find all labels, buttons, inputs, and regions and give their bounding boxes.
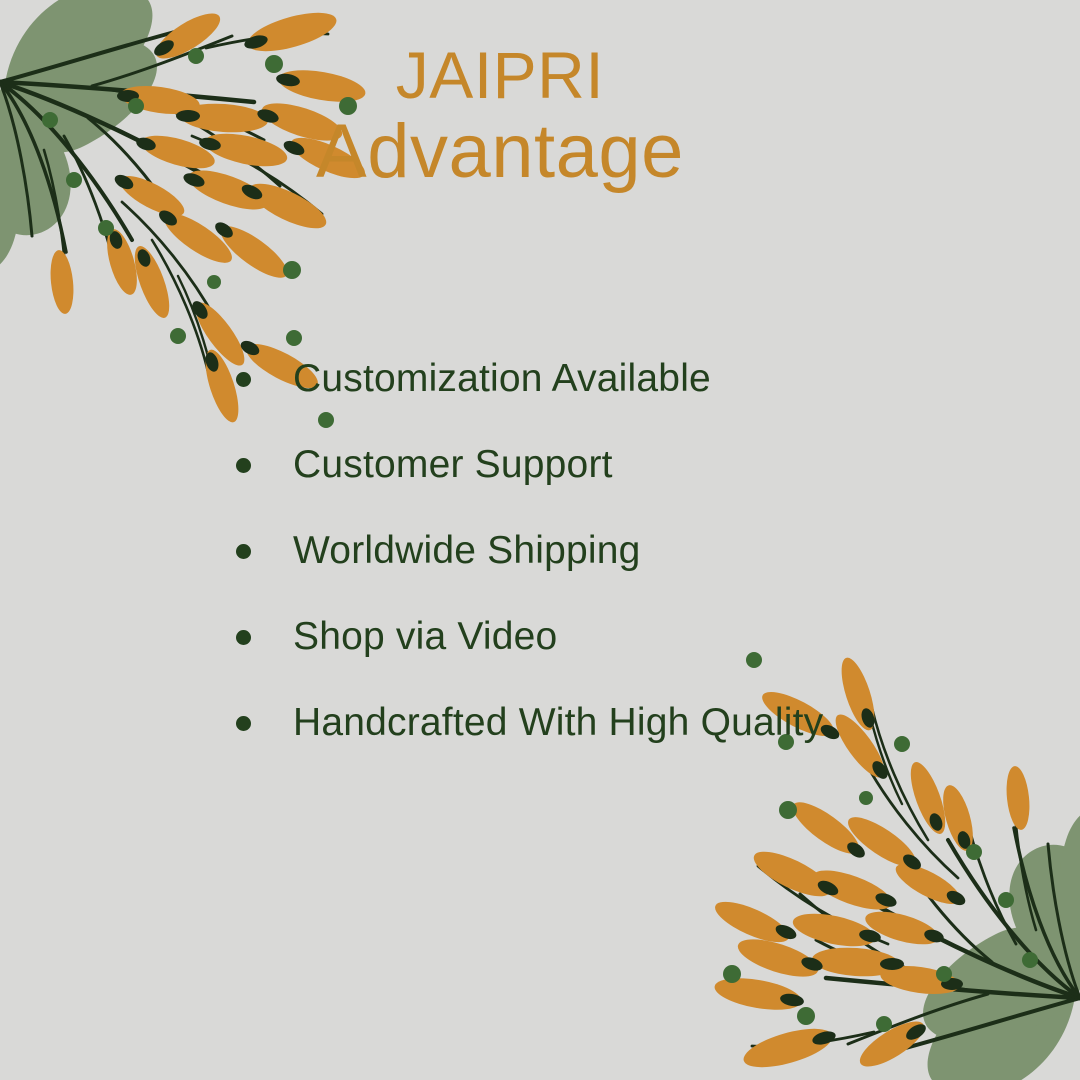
list-item: Shop via Video — [236, 594, 996, 680]
bullet-icon — [236, 458, 251, 473]
list-item-label: Customer Support — [293, 443, 613, 487]
page-title: JAIPRI Advantage — [275, 40, 725, 193]
sage-leaves-cluster — [0, 0, 157, 273]
bullet-icon — [236, 372, 251, 387]
brand-name: JAIPRI — [275, 40, 725, 111]
advantage-list: Customization Available Customer Support… — [236, 336, 996, 766]
poster-canvas: JAIPRI Advantage Customization Available… — [0, 0, 1080, 1080]
bullet-icon — [236, 630, 251, 645]
list-item-label: Customization Available — [293, 357, 711, 401]
list-item: Handcrafted With High Quality — [236, 680, 996, 766]
list-item-label: Handcrafted With High Quality — [293, 701, 823, 745]
title-subline: Advantage — [275, 111, 725, 193]
bullet-icon — [236, 544, 251, 559]
list-item-label: Shop via Video — [293, 615, 557, 659]
sage-leaves-cluster — [923, 807, 1080, 1080]
list-item: Worldwide Shipping — [236, 508, 996, 594]
list-item: Customer Support — [236, 422, 996, 508]
list-item-label: Worldwide Shipping — [293, 529, 641, 573]
list-item: Customization Available — [236, 336, 996, 422]
bullet-icon — [236, 716, 251, 731]
